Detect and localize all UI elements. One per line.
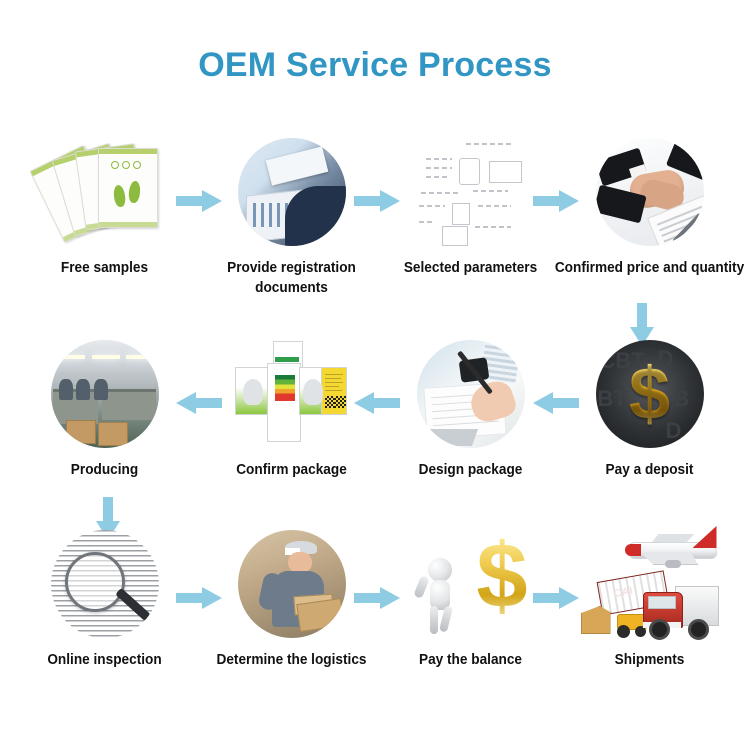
page-title: OEM Service Process (0, 46, 750, 85)
arrow-left-icon (354, 390, 400, 416)
foot-patch-sachets-image (11, 128, 198, 256)
dollar-glyph: $ (476, 530, 527, 622)
step-online-inspection[interactable]: Online inspection (11, 520, 198, 695)
step-free-samples[interactable]: Free samples (11, 128, 198, 303)
step-label: Producing (9, 460, 200, 480)
arrow-right-icon (354, 585, 400, 611)
step-label: Pay the balance (375, 650, 566, 670)
step-selected-parameters[interactable]: Selected parameters (377, 128, 564, 303)
process-row-2: Producing (0, 330, 750, 505)
step-label: Confirm package (196, 460, 387, 480)
step-provide-registration-documents[interactable]: Provide registration documents (198, 128, 385, 303)
step-label: Pay a deposit (554, 460, 745, 480)
oem-service-process-infographic: OEM Service Process Free samples (0, 0, 750, 750)
step-confirm-package[interactable]: Confirm package (198, 330, 385, 505)
arrow-right-icon (533, 585, 579, 611)
step-label: Free samples (9, 258, 200, 278)
figure-with-dollar-sign-image: $ (377, 520, 564, 648)
step-label: Selected parameters (375, 258, 566, 278)
container-label: CAI (612, 585, 633, 600)
arrow-left-icon (533, 390, 579, 416)
step-design-package[interactable]: Design package (377, 330, 564, 505)
handshake-contract-photo (556, 128, 743, 256)
step-label: Confirmed price and quantity (554, 258, 745, 278)
arrow-right-icon (176, 188, 222, 214)
arrow-right-icon (176, 585, 222, 611)
gold-dollar-sign-photo: CBT D BT B D $ (556, 330, 743, 458)
courier-with-parcels-photo (198, 520, 385, 648)
truck-icon (643, 582, 719, 640)
process-row-1: Free samples Provide registration docume… (0, 128, 750, 303)
step-label: Provide registration documents (196, 258, 387, 298)
step-pay-a-deposit[interactable]: CBT D BT B D $ Pay a deposit (556, 330, 743, 505)
dollar-glyph: $ (629, 357, 670, 431)
arrow-right-icon (354, 188, 400, 214)
step-producing[interactable]: Producing (11, 330, 198, 505)
step-label: Design package (375, 460, 566, 480)
magnifying-glass-document-image (11, 520, 198, 648)
arrow-left-icon (176, 390, 222, 416)
page-title-text: OEM Service Process (198, 46, 551, 84)
factory-production-line-photo (11, 330, 198, 458)
pallet-icon (581, 606, 611, 634)
plane-truck-container-image: CAI (556, 520, 743, 648)
airplane-icon (625, 528, 717, 570)
step-label: Shipments (554, 650, 745, 670)
step-confirmed-price-quantity[interactable]: Confirmed price and quantity (556, 128, 743, 303)
step-label: Online inspection (9, 650, 200, 670)
arrow-right-icon (533, 188, 579, 214)
step-shipments[interactable]: CAI Shipments (556, 520, 743, 695)
step-label: Determine the logistics (196, 650, 387, 670)
